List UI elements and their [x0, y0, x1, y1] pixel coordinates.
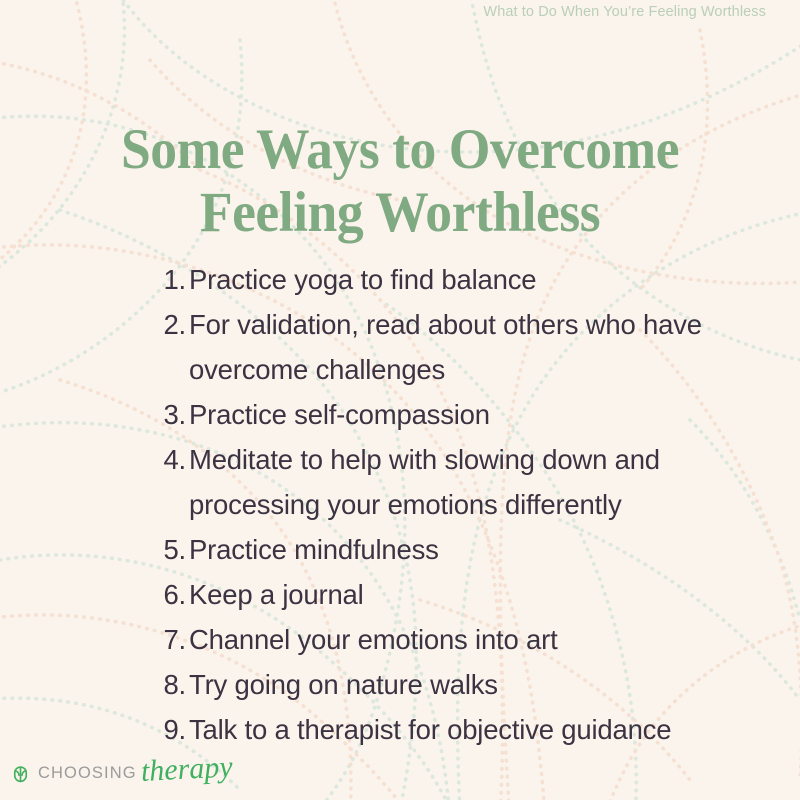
list-item-text: Meditate to help with slowing down and p… [189, 437, 749, 527]
list-item: 3. Practice self-compassion [148, 392, 788, 437]
list-item: 8. Try going on nature walks [148, 662, 788, 707]
logo-word-therapy: therapy [140, 752, 233, 791]
list-item-text: Practice self-compassion [189, 392, 749, 437]
list-item: 2. For validation, read about others who… [148, 302, 788, 392]
list-item-number: 9. [148, 707, 189, 752]
list-item-number: 8. [148, 662, 189, 707]
list-item-text: Keep a journal [189, 572, 749, 617]
list-item-number: 4. [148, 437, 189, 482]
list-item: 9. Talk to a therapist for objective gui… [148, 707, 788, 752]
list-item-text: Talk to a therapist for objective guidan… [189, 707, 749, 752]
list-item: 5. Practice mindfulness [148, 527, 788, 572]
infographic-canvas: .dg { fill:none; stroke:#dce8dc; stroke-… [0, 0, 800, 800]
list-item-number: 6. [148, 572, 189, 617]
list-item-text: Practice yoga to find balance [189, 257, 749, 302]
page-title: Some Ways to Overcome Feeling Worthless [24, 118, 776, 244]
brand-logo[interactable]: CHOOSING therapy [9, 758, 233, 790]
list-item-text: For validation, read about others who ha… [189, 302, 749, 392]
tips-list: 1. Practice yoga to find balance 2. For … [108, 257, 788, 752]
list-item: 1. Practice yoga to find balance [148, 257, 788, 302]
logo-word-choosing: CHOOSING [38, 765, 137, 783]
list-item: 6. Keep a journal [148, 572, 788, 617]
list-item: 7. Channel your emotions into art [148, 617, 788, 662]
list-item-number: 2. [148, 302, 189, 347]
list-item-number: 3. [148, 392, 189, 437]
page-title-line-1: Some Ways to Overcome [24, 118, 776, 181]
list-item-number: 1. [148, 257, 189, 302]
list-item-text: Practice mindfulness [189, 527, 749, 572]
list-item-text: Channel your emotions into art [189, 617, 749, 662]
list-item-text: Try going on nature walks [189, 662, 749, 707]
list-item: 4. Meditate to help with slowing down an… [148, 437, 788, 527]
tulip-leaf-icon [9, 763, 32, 786]
list-item-number: 5. [148, 527, 189, 572]
article-header-text: What to Do When You’re Feeling Worthless [483, 4, 766, 20]
page-title-line-2: Feeling Worthless [24, 181, 776, 244]
list-item-number: 7. [148, 617, 189, 662]
